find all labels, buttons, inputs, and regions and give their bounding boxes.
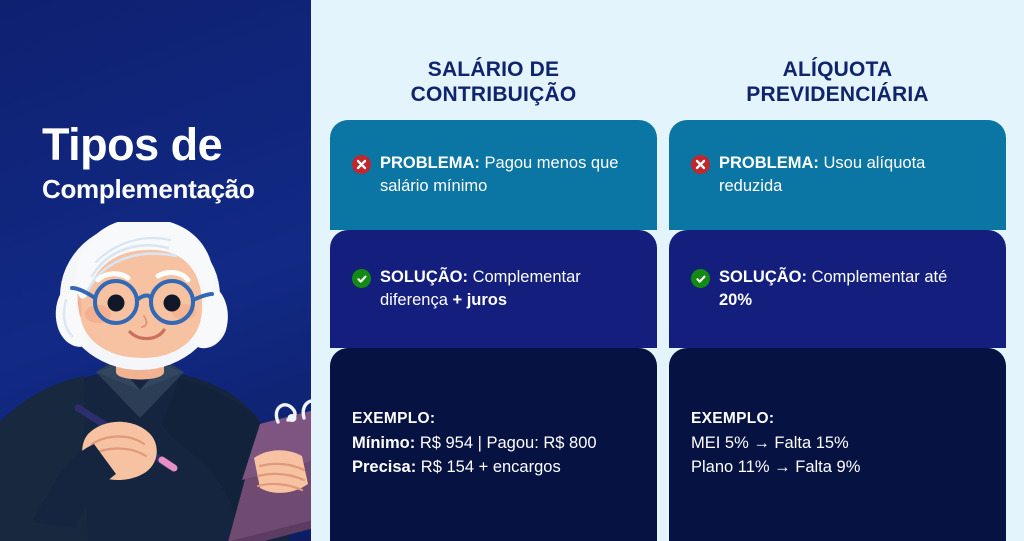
example-title: EXEMPLO: — [691, 410, 984, 428]
example-row-value: R$ 154 + encargos — [416, 458, 560, 476]
problem-line: PROBLEMA: Pagou menos que salário mínimo — [352, 152, 635, 198]
problem-label: PROBLEMA: — [380, 154, 480, 172]
problem-card-aliquota[interactable]: PROBLEMA: Usou alíquota reduzida — [669, 120, 1006, 230]
solution-card-salario[interactable]: SOLUÇÃO: Complementar diferença + juros — [330, 230, 657, 348]
solution-card-aliquota[interactable]: SOLUÇÃO: Complementar até 20% — [669, 230, 1006, 348]
solution-label: SOLUÇÃO: — [719, 268, 807, 286]
column-aliquota-previdenciaria: ALÍQUOTA PREVIDENCIÁRIA PROBLEMA: Usou a… — [669, 0, 1006, 541]
title-line-primary: Tipos de — [42, 122, 304, 167]
example-row: Precisa: R$ 154 + encargos — [352, 456, 635, 479]
solution-emphasis: + juros — [452, 291, 507, 309]
example-row-label: Mínimo: — [352, 434, 415, 452]
column-header-line1: ALÍQUOTA — [669, 58, 1006, 83]
card-stack-salario: PROBLEMA: Pagou menos que salário mínimo… — [330, 120, 657, 541]
column-header-line2: CONTRIBUIÇÃO — [330, 83, 657, 108]
example-title: EXEMPLO: — [352, 410, 635, 428]
example-row-label: Precisa: — [352, 458, 416, 476]
column-header-line1: SALÁRIO DE — [330, 58, 657, 83]
page-title: Tipos de Complementação — [42, 122, 304, 205]
column-salario-de-contribuicao: SALÁRIO DE CONTRIBUIÇÃO PROBLEMA: Pagou … — [330, 0, 657, 541]
infographic-root: Tipos de Complementação — [0, 0, 1024, 541]
example-row-value: R$ 954 | Pagou: R$ 800 — [415, 434, 596, 452]
column-header-line2: PREVIDENCIÁRIA — [669, 83, 1006, 108]
example-row-value: MEI 5% → Falta 15% — [691, 434, 849, 452]
solution-emphasis: 20% — [719, 291, 752, 309]
success-check-icon — [691, 269, 710, 288]
error-x-icon — [352, 155, 371, 174]
example-card-aliquota[interactable]: EXEMPLO: MEI 5% → Falta 15% Plano 11% → … — [669, 348, 1006, 541]
problem-label: PROBLEMA: — [719, 154, 819, 172]
success-check-icon — [352, 269, 371, 288]
column-header-salario: SALÁRIO DE CONTRIBUIÇÃO — [330, 58, 657, 108]
example-row: MEI 5% → Falta 15% — [691, 432, 984, 455]
elderly-woman-illustration — [0, 222, 311, 541]
problem-line: PROBLEMA: Usou alíquota reduzida — [691, 152, 984, 198]
problem-text: PROBLEMA: Pagou menos que salário mínimo — [380, 152, 635, 198]
title-line-secondary: Complementação — [42, 175, 304, 205]
columns-area: SALÁRIO DE CONTRIBUIÇÃO PROBLEMA: Pagou … — [311, 0, 1024, 541]
solution-text: SOLUÇÃO: Complementar diferença + juros — [380, 266, 635, 312]
problem-text: PROBLEMA: Usou alíquota reduzida — [719, 152, 984, 198]
solution-body: Complementar até — [807, 268, 947, 286]
example-row-value: Plano 11% → Falta 9% — [691, 458, 860, 476]
example-card-salario[interactable]: EXEMPLO: Mínimo: R$ 954 | Pagou: R$ 800 … — [330, 348, 657, 541]
solution-text: SOLUÇÃO: Complementar até 20% — [719, 266, 984, 312]
solution-line: SOLUÇÃO: Complementar diferença + juros — [352, 266, 635, 312]
solution-line: SOLUÇÃO: Complementar até 20% — [691, 266, 984, 312]
example-row: Plano 11% → Falta 9% — [691, 456, 984, 479]
example-row: Mínimo: R$ 954 | Pagou: R$ 800 — [352, 432, 635, 455]
solution-label: SOLUÇÃO: — [380, 268, 468, 286]
column-header-aliquota: ALÍQUOTA PREVIDENCIÁRIA — [669, 58, 1006, 108]
error-x-icon — [691, 155, 710, 174]
card-stack-aliquota: PROBLEMA: Usou alíquota reduzida SOLUÇÃO… — [669, 120, 1006, 541]
problem-card-salario[interactable]: PROBLEMA: Pagou menos que salário mínimo — [330, 120, 657, 230]
left-panel: Tipos de Complementação — [0, 0, 311, 541]
